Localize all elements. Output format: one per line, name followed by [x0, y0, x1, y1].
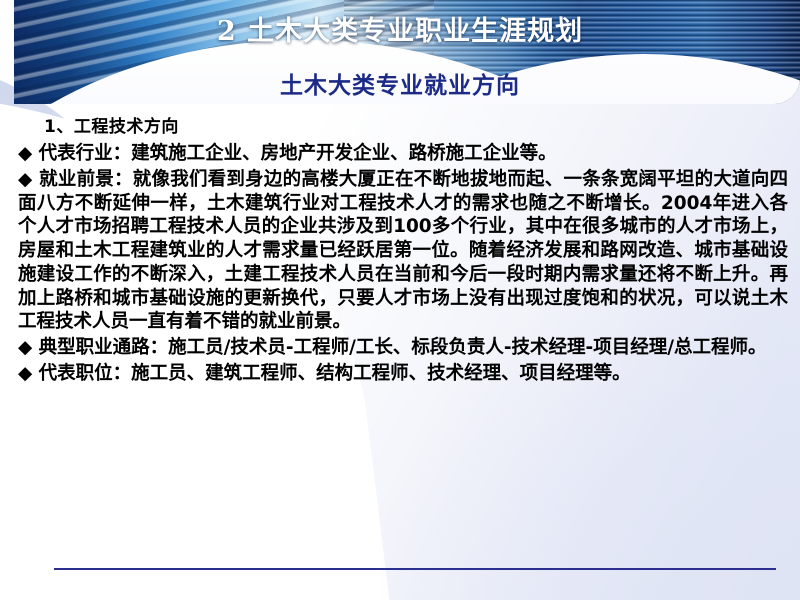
bullet-representative-industries-text: ◆ 代表行业：建筑施工企业、房地产开发企业、路桥施工企业等。 [18, 142, 788, 166]
section-heading: 1、工程技术方向 [44, 112, 788, 137]
slide-content: 1、工程技术方向 ◆ 代表行业：建筑施工企业、房地产开发企业、路桥施工企业等。 … [18, 112, 788, 388]
slide-root: 2 土木大类专业职业生涯规划 土木大类专业就业方向 1、工程技术方向 ◆ 代表行… [0, 0, 800, 600]
footer-divider [54, 568, 776, 570]
bullet-representative-industries: ◆ 代表行业：建筑施工企业、房地产开发企业、路桥施工企业等。 [18, 142, 788, 166]
page-title: 2 土木大类专业职业生涯规划 [0, 9, 800, 48]
bullet-typical-career-path: ◆ 典型职业通路：施工员/技术员-工程师/工长、标段负责人-技术经理-项目经理/… [18, 336, 788, 360]
bullet-representative-positions: ◆ 代表职位：施工员、建筑工程师、结构工程师、技术经理、项目经理等。 [18, 362, 788, 386]
bullet-employment-outlook: ◆ 就业前景：就像我们看到身边的高楼大厦正在不断地拔地而起、一条条宽阔平坦的大道… [18, 168, 788, 334]
bullet-representative-positions-text: ◆ 代表职位：施工员、建筑工程师、结构工程师、技术经理、项目经理等。 [18, 362, 788, 386]
bullet-typical-career-path-text: ◆ 典型职业通路：施工员/技术员-工程师/工长、标段负责人-技术经理-项目经理/… [18, 336, 788, 360]
page-subtitle: 土木大类专业就业方向 [0, 66, 800, 100]
bullet-employment-outlook-text: ◆ 就业前景：就像我们看到身边的高楼大厦正在不断地拔地而起、一条条宽阔平坦的大道… [18, 168, 788, 334]
